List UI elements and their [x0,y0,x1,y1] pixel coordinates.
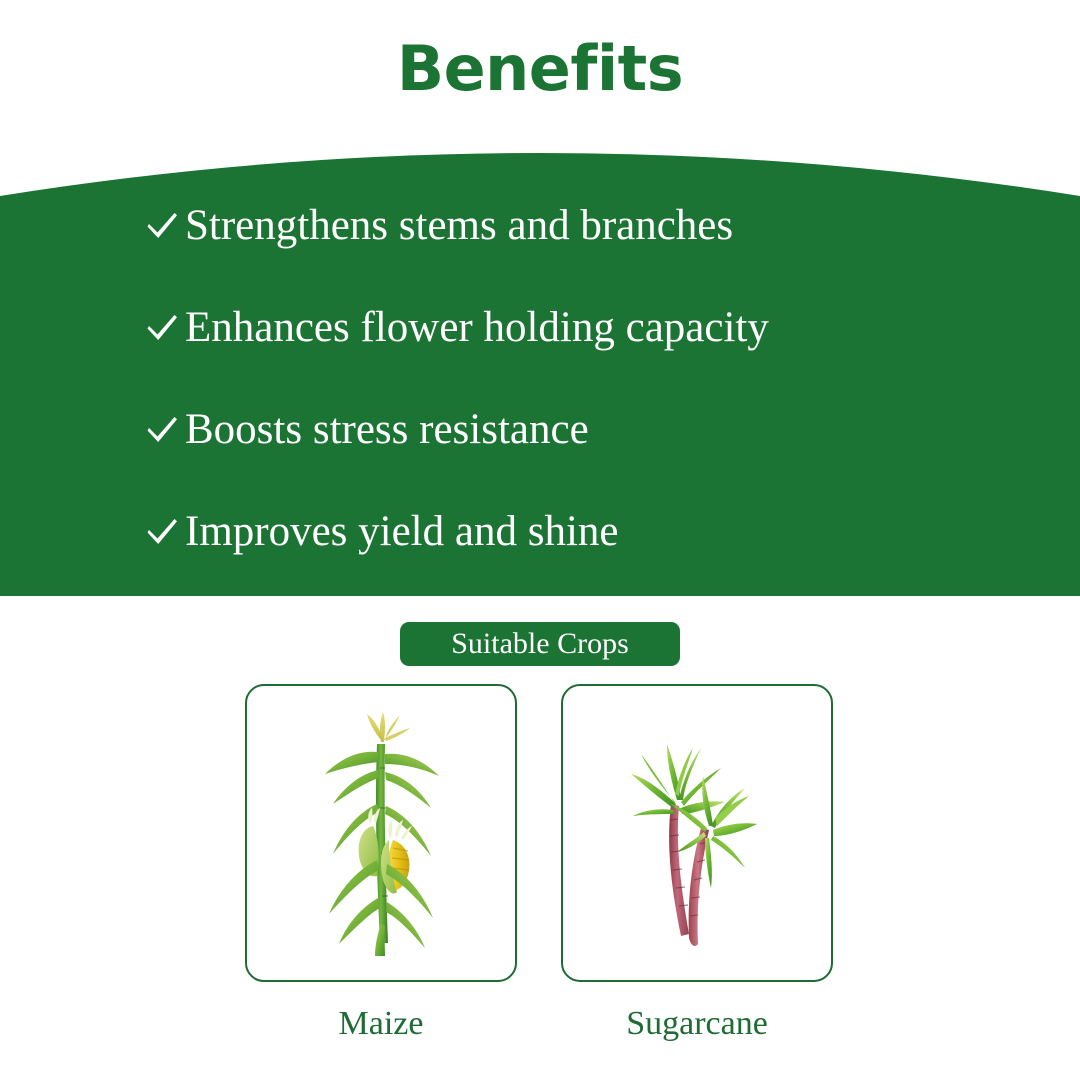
benefit-label: Improves yield and shine [185,508,619,555]
crop-label-sugarcane: Sugarcane [561,1004,833,1045]
suitable-crops-label: Suitable Crops [451,629,629,659]
crop-card-sugarcane[interactable] [561,684,833,982]
page-title: Benefits [0,38,1080,100]
benefit-item: Strengthens stems and branches [145,198,733,254]
benefit-item: Improves yield and shine [145,504,619,560]
check-icon [145,517,185,547]
crop-card-maize[interactable] [245,684,517,982]
sugarcane-plant-illustration [597,708,797,958]
check-icon [145,313,185,343]
benefit-label: Enhances flower holding capacity [185,304,769,351]
check-icon [145,415,185,445]
benefit-item: Enhances flower holding capacity [145,300,769,356]
maize-plant-illustration [281,708,481,958]
benefit-label: Strengthens stems and branches [185,202,733,249]
benefits-list: Strengthens stems and branches Enhances … [0,110,1080,596]
benefit-label: Boosts stress resistance [185,406,589,453]
benefit-item: Boosts stress resistance [145,402,589,458]
crop-label-maize: Maize [245,1004,517,1045]
suitable-crops-badge: Suitable Crops [400,622,680,666]
check-icon [145,211,185,241]
benefits-infographic: Benefits Strengthens stems and branches … [0,0,1080,1080]
